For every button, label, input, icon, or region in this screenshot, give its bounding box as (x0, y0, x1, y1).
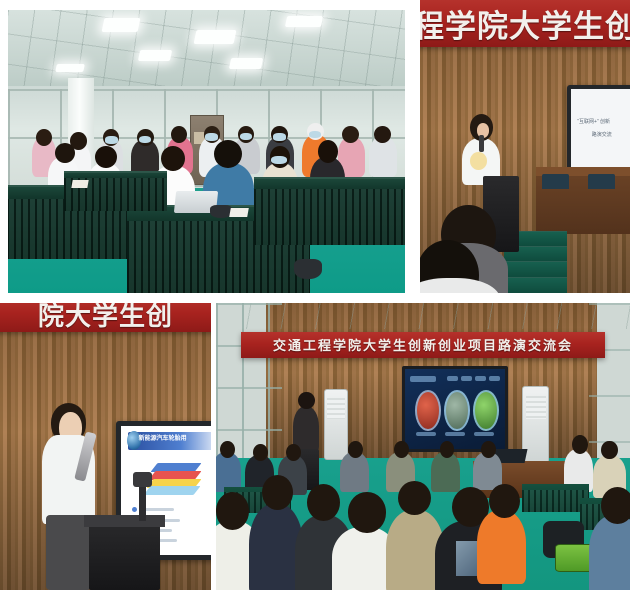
lectern (89, 518, 161, 590)
face-mask (205, 133, 218, 140)
ceiling-light (138, 50, 172, 61)
slide-image-circle (415, 390, 441, 431)
student (369, 137, 397, 177)
ceiling-light (55, 64, 85, 72)
slide-caption (445, 432, 465, 436)
desk-row (64, 171, 167, 211)
notebook (230, 208, 250, 217)
desk-row (254, 177, 405, 245)
event-banner: 程学院大学生创 (420, 0, 630, 47)
photo-auditorium-wide[interactable]: 交通工程学院大学生创新创业项目路演交流会 (216, 303, 630, 590)
slide-title-bar (410, 376, 436, 382)
air-conditioner (324, 389, 349, 460)
audience-member (431, 452, 460, 492)
lectern-top (84, 515, 164, 526)
student-head (374, 126, 391, 143)
audience-head (216, 492, 249, 529)
classroom-scene (8, 10, 405, 293)
slide-line-2: 路演交流 (592, 131, 612, 138)
slide-nav-item (461, 376, 472, 381)
mic-stand (139, 481, 145, 521)
student-head (36, 129, 52, 146)
ceiling-light (102, 18, 141, 32)
audience-head (286, 444, 301, 461)
audience-head (601, 487, 630, 524)
bullet-text-line (141, 508, 174, 511)
audience-head (601, 441, 618, 460)
shirt-graphic (470, 152, 487, 170)
audience-head (394, 441, 409, 458)
slide-image-circle (444, 390, 470, 431)
student-head (342, 126, 359, 143)
photo-collage: 程学院大学生创 “互联网+” 创新 路演交流 (0, 0, 630, 600)
student-head (171, 126, 187, 143)
event-banner-text: 交通工程学院大学生创新创业项目路演交流会 (273, 335, 573, 354)
event-banner-text: 院大学生创 (38, 303, 173, 332)
audience-head (220, 441, 235, 458)
face-mask (240, 133, 252, 140)
slide-layer (144, 486, 202, 495)
face-mask (139, 136, 152, 143)
notebook (71, 180, 88, 188)
presentation-screen (402, 366, 507, 452)
slide-nav-item (475, 376, 486, 381)
stage-step (500, 261, 567, 278)
photo-classroom-audience[interactable] (8, 10, 405, 293)
student-head (55, 143, 75, 163)
backpack (294, 259, 322, 279)
slide-line-1: “互联网+” 创新 (577, 118, 610, 125)
face-mask (273, 133, 286, 140)
ceiling-light (285, 16, 323, 27)
audience-member (477, 510, 527, 585)
seat-table (522, 484, 588, 513)
event-banner-text: 程学院大学生创 (420, 1, 630, 46)
presenter-head (298, 392, 315, 409)
student-head (161, 146, 185, 171)
face-mask (271, 156, 287, 164)
ceiling-light (193, 30, 236, 44)
audience-head (307, 484, 340, 521)
slide-image-circle (473, 390, 499, 431)
microphone (479, 135, 484, 153)
audience-head (262, 475, 293, 509)
event-banner: 院大学生创 (0, 303, 211, 332)
student-head (318, 140, 338, 163)
stage-chair (588, 174, 615, 189)
photo-presenter-slide[interactable]: 院大学生创 新能源汽车轮胎用 (0, 303, 211, 590)
slide-nav-item (489, 376, 500, 381)
audience-head (572, 435, 588, 454)
auditorium-scene: 交通工程学院大学生创新创业项目路演交流会 (216, 303, 630, 590)
stage-scene: 程学院大学生创 “互联网+” 创新 路演交流 (420, 0, 630, 293)
audience-member (589, 515, 630, 590)
audience-head (481, 441, 496, 458)
audience-head (348, 492, 385, 532)
photo-speaker-banner[interactable]: 程学院大学生创 “互联网+” 创新 路演交流 (420, 0, 630, 293)
audience-member (340, 452, 369, 492)
ceiling-light (229, 58, 263, 69)
slide-title: 新能源汽车轮胎用 (139, 433, 187, 442)
presenter-scene: 院大学生创 新能源汽车轮胎用 (0, 303, 211, 590)
mic-head (133, 472, 152, 486)
slide-nav-item (447, 376, 458, 381)
face-mask (105, 136, 118, 143)
slide-caption (474, 432, 494, 436)
event-banner: 交通工程学院大学生创新创业项目路演交流会 (241, 332, 605, 358)
stage-chair (542, 174, 569, 189)
slide-caption (416, 432, 436, 436)
bullet-marker (132, 507, 137, 512)
audience-head (253, 444, 268, 461)
